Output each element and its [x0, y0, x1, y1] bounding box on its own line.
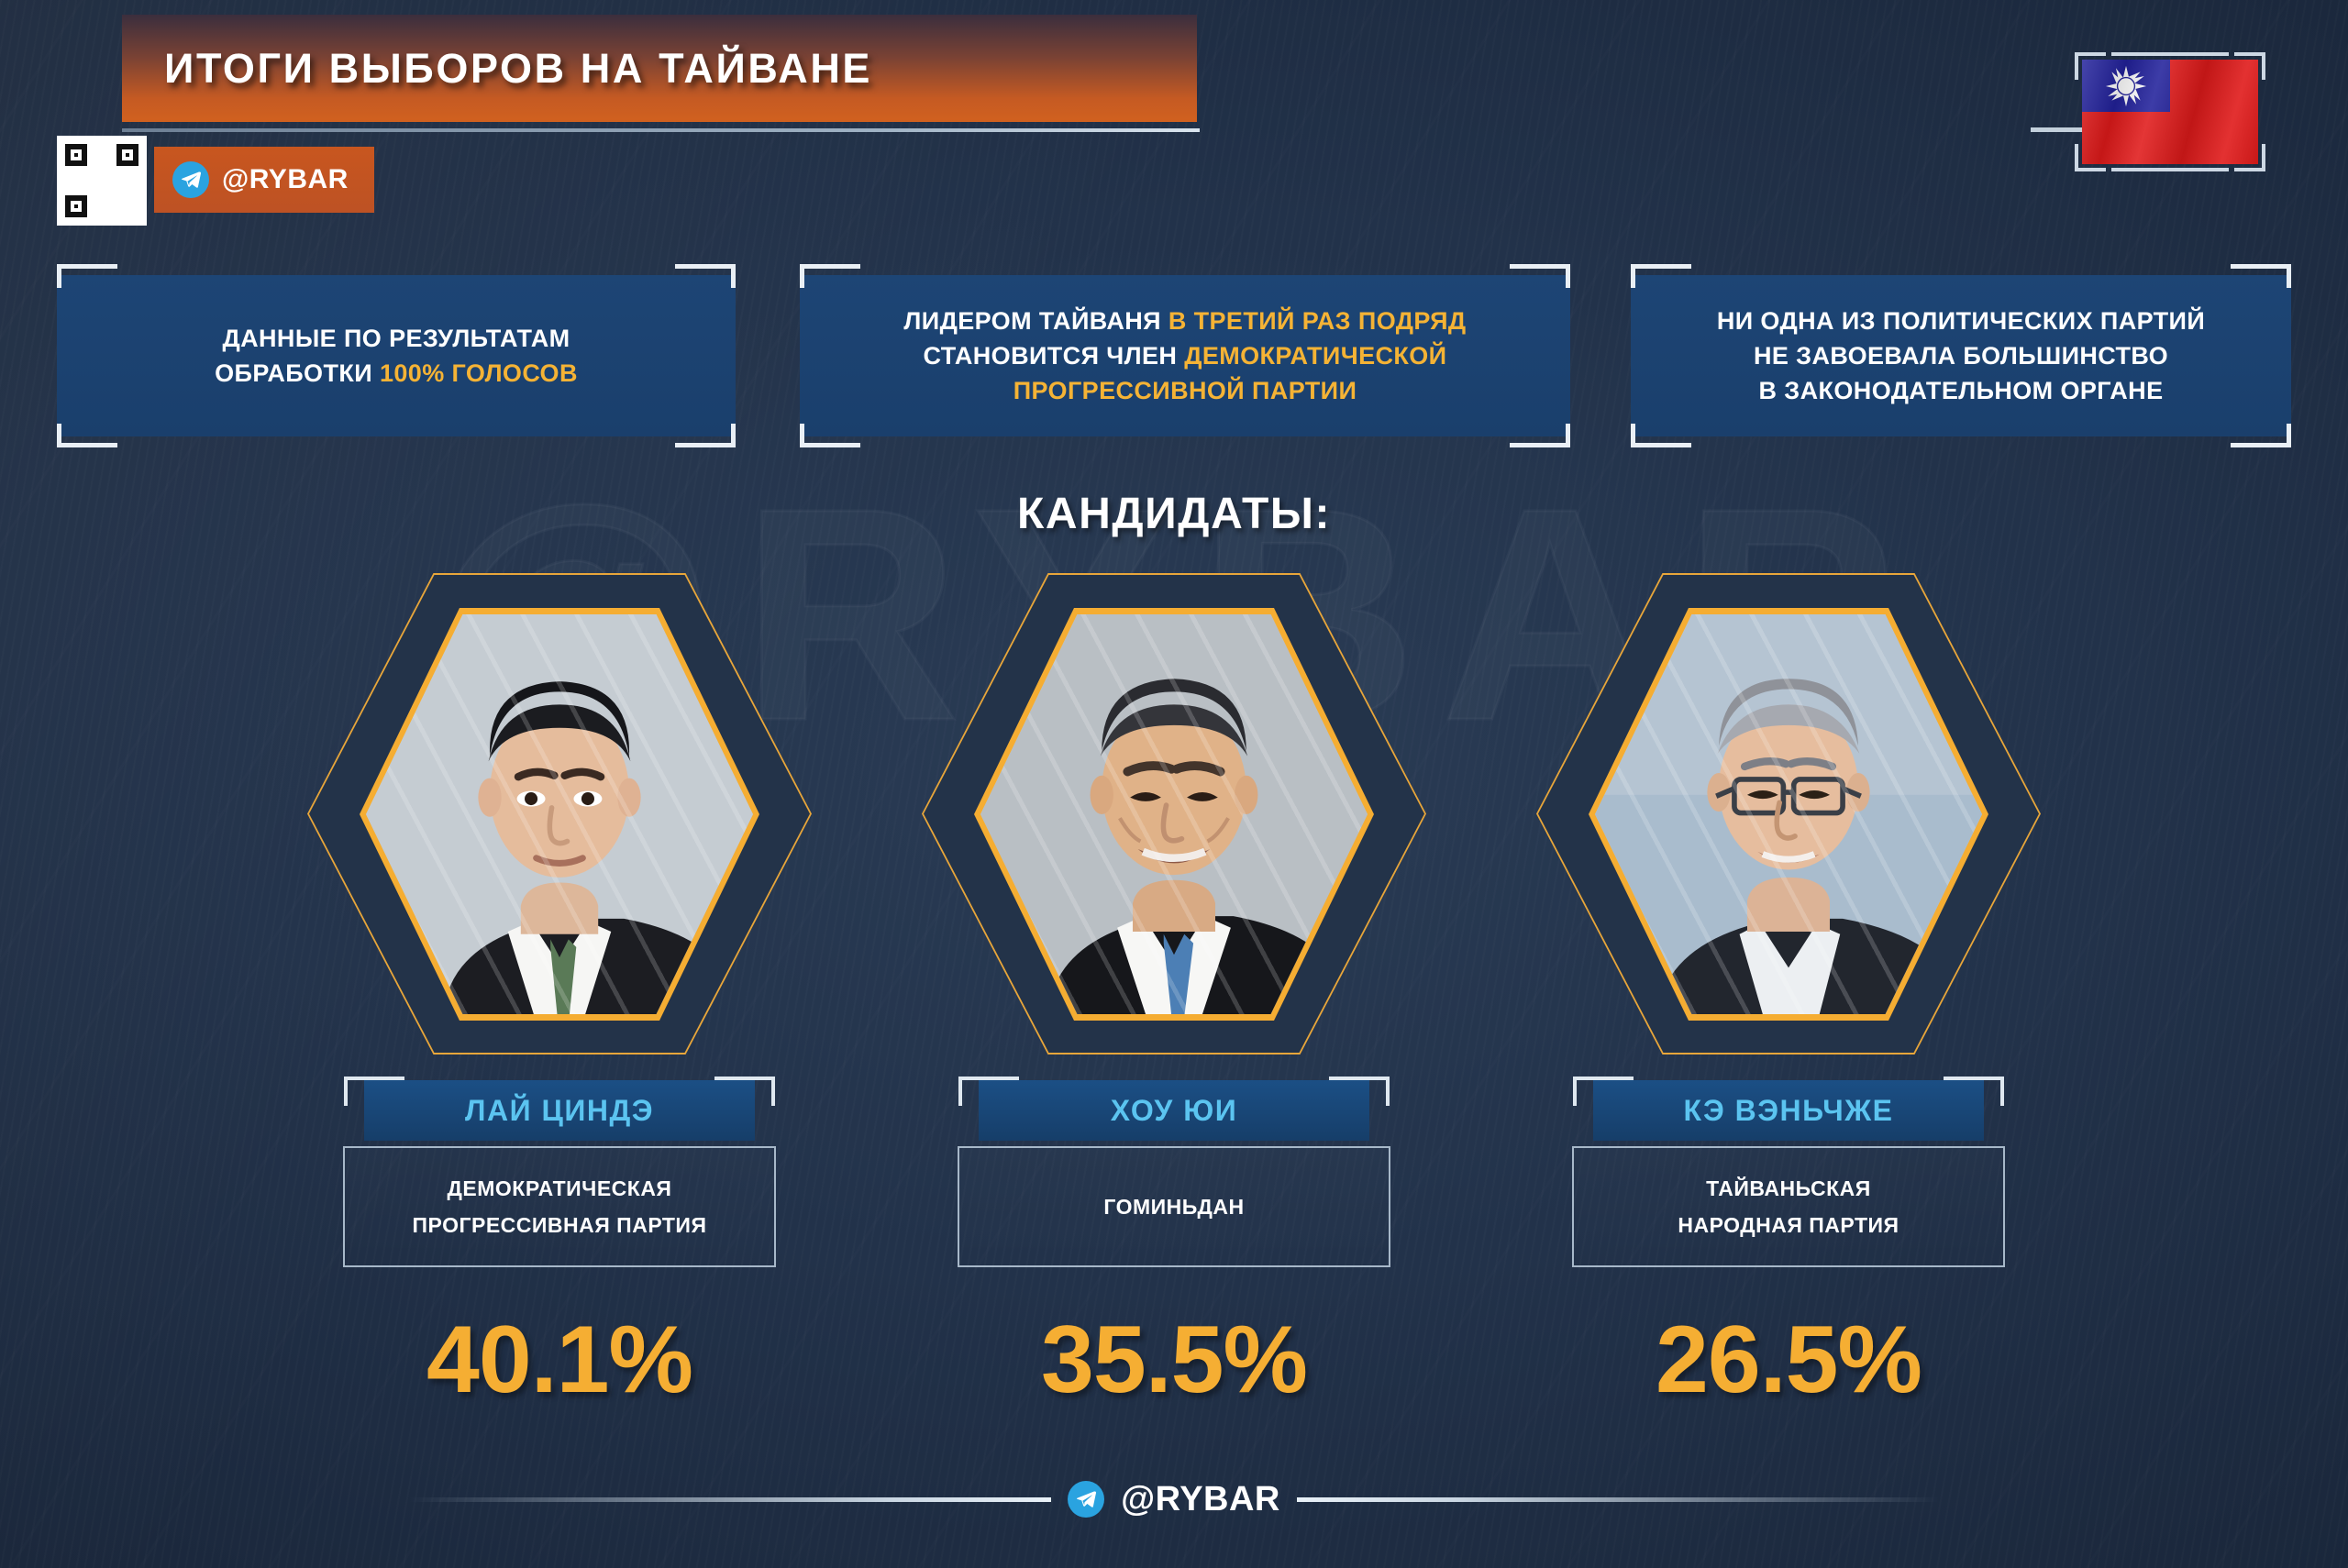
page-title: ИТОГИ ВЫБОРОВ НА ТАЙВАНЕ: [164, 45, 872, 93]
candidate-name-plate: ХОУ ЮИ: [958, 1080, 1390, 1141]
telegram-channel-bar[interactable]: @RYBAR: [154, 147, 374, 213]
info-box-leader-party: ЛИДЕРОМ ТАЙВАНЯ В ТРЕТИЙ РАЗ ПОДРЯД СТАН…: [800, 264, 1570, 447]
footer-channel-label: @RYBAR: [1121, 1480, 1280, 1519]
candidate-percentage: 35.5%: [917, 1306, 1431, 1415]
qr-code-pattern: [63, 142, 140, 219]
info2-line3-highlight: ПРОГРЕССИВНОЙ ПАРТИИ: [1013, 377, 1357, 404]
party-line-1: ДЕМОКРАТИЧЕСКАЯ: [448, 1176, 672, 1200]
candidate-photo-frame: [303, 564, 816, 1064]
candidate-card-2: КЭ ВЭНЬЧЖЕ ТАЙВАНЬСКАЯ НАРОДНАЯ ПАРТИЯ 2…: [1532, 564, 2045, 1415]
qr-eye-top-left: [65, 144, 87, 166]
telegram-icon: [172, 161, 209, 198]
footer: @RYBAR: [0, 1467, 2348, 1531]
qr-eye-top-right: [116, 144, 138, 166]
candidate-party-box: ТАЙВАНЬСКАЯ НАРОДНАЯ ПАРТИЯ: [1572, 1146, 2005, 1267]
bracket-edge-tr: [2231, 264, 2267, 269]
candidate-name-box: ХОУ ЮИ: [979, 1080, 1369, 1141]
info1-line1: ДАННЫЕ ПО РЕЗУЛЬТАТАМ: [222, 325, 570, 352]
flag-edge-bottom: [2111, 168, 2229, 171]
candidate-party-text: ТАЙВАНЬСКАЯ НАРОДНАЯ ПАРТИЯ: [1678, 1170, 1899, 1244]
bracket-edge-tl: [1655, 264, 1691, 269]
info3-line3: В ЗАКОНОДАТЕЛЬНОМ ОРГАНЕ: [1759, 377, 2164, 404]
candidates-heading: КАНДИДАТЫ:: [0, 489, 2348, 539]
header-banner: ИТОГИ ВЫБОРОВ НА ТАЙВАНЕ: [122, 15, 1197, 122]
qr-code-icon[interactable]: [57, 136, 147, 226]
footer-line-left: [409, 1497, 1051, 1502]
bracket-edge-br: [2231, 443, 2267, 447]
flag-corner-bottom-left: [2075, 144, 2106, 171]
info2-line2: СТАНОВИТСЯ ЧЛЕН: [923, 342, 1184, 370]
bracket-edge-tl: [81, 264, 117, 269]
info-box-body: ЛИДЕРОМ ТАЙВАНЯ В ТРЕТИЙ РАЗ ПОДРЯД СТАН…: [800, 275, 1570, 436]
info-box-text: ЛИДЕРОМ ТАЙВАНЯ В ТРЕТИЙ РАЗ ПОДРЯД СТАН…: [903, 304, 1466, 409]
bracket-bottom-right: [1546, 424, 1570, 447]
candidate-card-0: ЛАЙ ЦИНДЭ ДЕМОКРАТИЧЕСКАЯ ПРОГРЕССИВНАЯ …: [303, 564, 816, 1415]
candidate-photo-frame: [1532, 564, 2045, 1064]
candidate-party-box: ДЕМОКРАТИЧЕСКАЯ ПРОГРЕССИВНАЯ ПАРТИЯ: [343, 1146, 776, 1267]
party-line-1: ТАЙВАНЬСКАЯ: [1706, 1176, 1871, 1200]
bracket-top-left: [800, 264, 824, 288]
bracket-edge-bl: [1655, 443, 1691, 447]
name-edge-left: [366, 1077, 404, 1080]
candidate-percentage: 40.1%: [303, 1306, 816, 1415]
candidate-name: КЭ ВЭНЬЧЖЕ: [1684, 1094, 1894, 1128]
info-box-text: ДАННЫЕ ПО РЕЗУЛЬТАТАМ ОБРАБОТКИ 100% ГОЛ…: [215, 321, 578, 392]
bracket-top-right: [2267, 264, 2291, 288]
candidate-name-box: КЭ ВЭНЬЧЖЕ: [1593, 1080, 1984, 1141]
flag-corner-bottom-right: [2234, 144, 2265, 171]
flag-edge-top: [2111, 52, 2229, 56]
info2-line1-highlight: В ТРЕТИЙ РАЗ ПОДРЯД: [1168, 307, 1467, 335]
candidate-name: ЛАЙ ЦИНДЭ: [465, 1094, 654, 1128]
flag-corner-top-left: [2075, 52, 2106, 80]
info-boxes-row: ДАННЫЕ ПО РЕЗУЛЬТАТАМ ОБРАБОТКИ 100% ГОЛ…: [0, 264, 2348, 447]
info-box-votes-processed: ДАННЫЕ ПО РЕЗУЛЬТАТАМ ОБРАБОТКИ 100% ГОЛ…: [57, 264, 736, 447]
name-bracket-right: [1368, 1077, 1390, 1106]
info-box-no-majority: НИ ОДНА ИЗ ПОЛИТИЧЕСКИХ ПАРТИЙ НЕ ЗАВОЕВ…: [1631, 264, 2291, 447]
bracket-edge-br: [675, 443, 712, 447]
name-bracket-left: [344, 1077, 366, 1106]
name-edge-right: [714, 1077, 753, 1080]
bracket-bottom-right: [2267, 424, 2291, 447]
bracket-edge-bl: [824, 443, 860, 447]
flag-sun-icon: [2105, 65, 2147, 107]
candidate-name-plate: КЭ ВЭНЬЧЖЕ: [1573, 1080, 2004, 1141]
bracket-top-left: [57, 264, 81, 288]
candidate-photo-frame: [917, 564, 1431, 1064]
flag-image: [2082, 60, 2258, 164]
bracket-edge-tr: [1510, 264, 1546, 269]
name-bracket-left: [958, 1077, 980, 1106]
bracket-bottom-left: [800, 424, 824, 447]
flag-corner-top-right: [2234, 52, 2265, 80]
bracket-edge-tr: [675, 264, 712, 269]
info1-line2-highlight: 100% ГОЛОСОВ: [380, 359, 578, 387]
candidate-party-text: ГОМИНЬДАН: [1103, 1188, 1244, 1225]
party-line-2: ПРОГРЕССИВНАЯ ПАРТИЯ: [413, 1213, 707, 1237]
name-edge-right: [1329, 1077, 1368, 1080]
candidate-card-1: ХОУ ЮИ ГОМИНЬДАН 35.5%: [917, 564, 1431, 1415]
info-box-text: НИ ОДНА ИЗ ПОЛИТИЧЕСКИХ ПАРТИЙ НЕ ЗАВОЕВ…: [1717, 304, 2205, 409]
taiwan-flag: [2075, 52, 2265, 171]
candidate-name: ХОУ ЮИ: [1111, 1094, 1237, 1128]
info-box-body: ДАННЫЕ ПО РЕЗУЛЬТАТАМ ОБРАБОТКИ 100% ГОЛ…: [57, 275, 736, 436]
party-line-2: НАРОДНАЯ ПАРТИЯ: [1678, 1213, 1899, 1237]
candidate-name-box: ЛАЙ ЦИНДЭ: [364, 1080, 755, 1141]
party-line-1: ГОМИНЬДАН: [1103, 1195, 1244, 1219]
bracket-edge-tl: [824, 264, 860, 269]
name-edge-left: [1595, 1077, 1634, 1080]
name-edge-right: [1944, 1077, 1982, 1080]
name-bracket-right: [753, 1077, 775, 1106]
candidate-name-plate: ЛАЙ ЦИНДЭ: [344, 1080, 775, 1141]
bracket-edge-br: [1510, 443, 1546, 447]
bracket-edge-bl: [81, 443, 117, 447]
bracket-top-right: [1546, 264, 1570, 288]
bracket-bottom-left: [57, 424, 81, 447]
qr-eye-bottom-left: [65, 195, 87, 217]
telegram-channel-label: @RYBAR: [222, 164, 349, 195]
telegram-icon: [1068, 1481, 1104, 1518]
candidate-party-box: ГОМИНЬДАН: [958, 1146, 1390, 1267]
name-bracket-left: [1573, 1077, 1595, 1106]
info2-line1: ЛИДЕРОМ ТАЙВАНЯ: [903, 307, 1168, 335]
bracket-top-left: [1631, 264, 1655, 288]
info-box-body: НИ ОДНА ИЗ ПОЛИТИЧЕСКИХ ПАРТИЙ НЕ ЗАВОЕВ…: [1631, 275, 2291, 436]
info3-line1: НИ ОДНА ИЗ ПОЛИТИЧЕСКИХ ПАРТИЙ: [1717, 307, 2205, 335]
name-edge-left: [980, 1077, 1019, 1080]
footer-line-right: [1297, 1497, 1939, 1502]
bracket-bottom-right: [712, 424, 736, 447]
info1-line2: ОБРАБОТКИ: [215, 359, 380, 387]
name-bracket-right: [1982, 1077, 2004, 1106]
header-rule: [122, 128, 1200, 132]
info2-line2-highlight: ДЕМОКРАТИЧЕСКОЙ: [1184, 342, 1446, 370]
candidate-percentage: 26.5%: [1532, 1306, 2045, 1415]
info3-line2: НЕ ЗАВОЕВАЛА БОЛЬШИНСТВО: [1754, 342, 2168, 370]
bracket-top-right: [712, 264, 736, 288]
candidate-party-text: ДЕМОКРАТИЧЕСКАЯ ПРОГРЕССИВНАЯ ПАРТИЯ: [413, 1170, 707, 1244]
bracket-bottom-left: [1631, 424, 1655, 447]
